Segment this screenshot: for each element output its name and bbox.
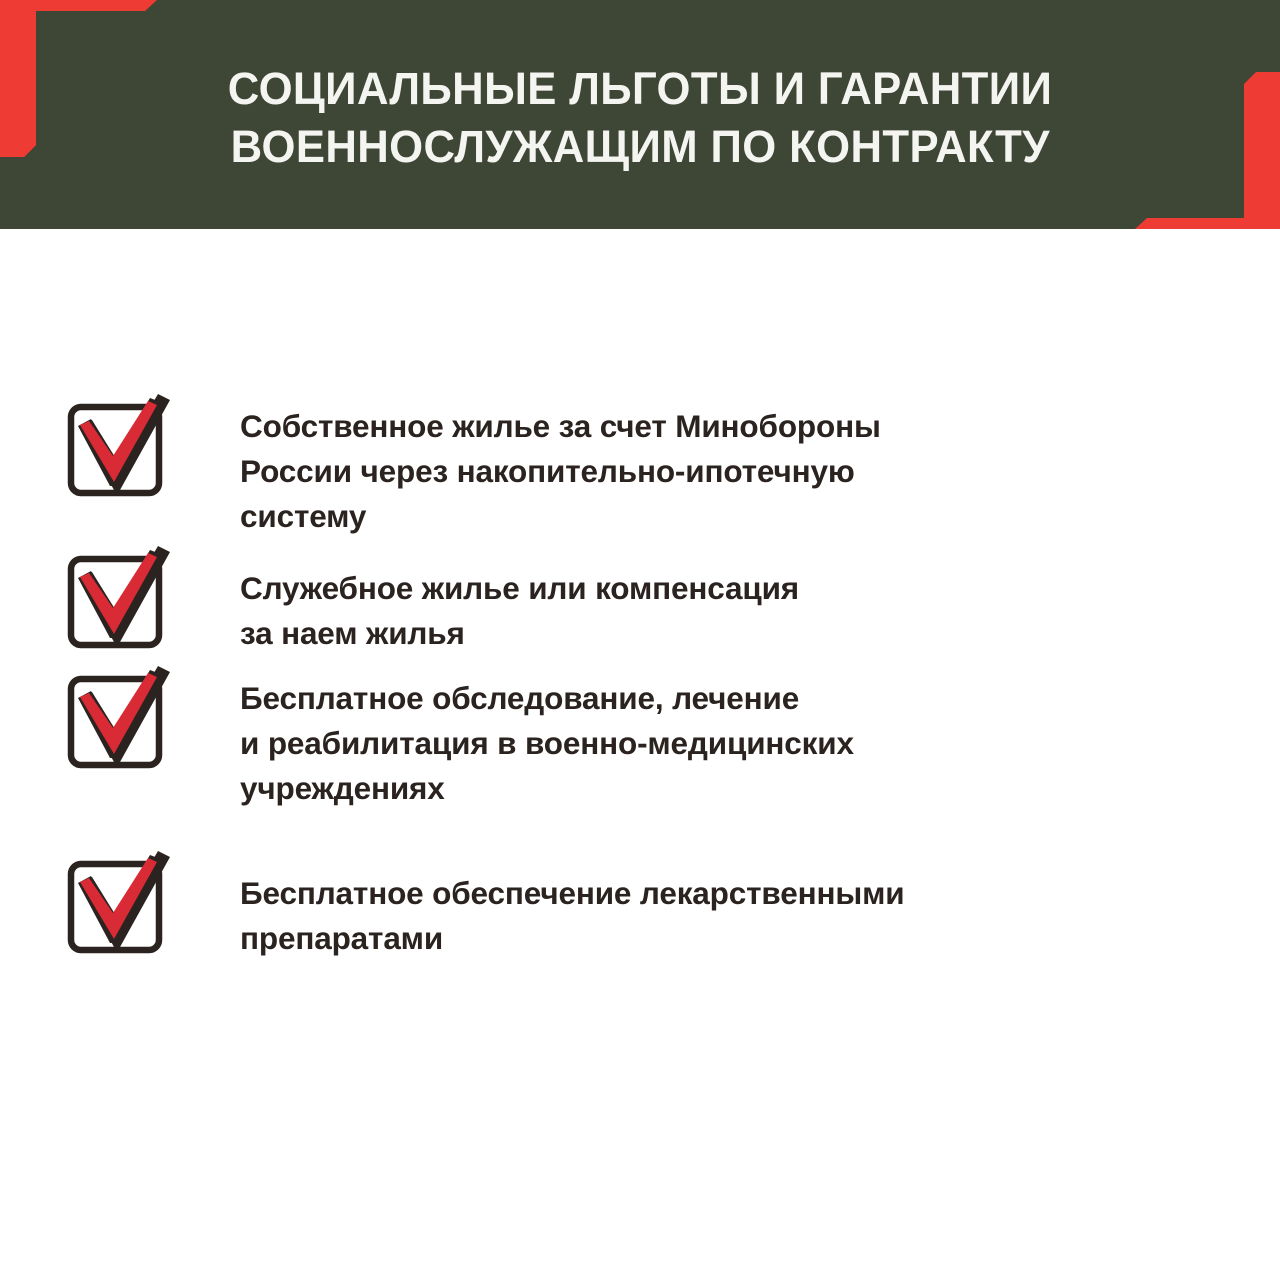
page-title-line-2: ВОЕННОСЛУЖАЩИМ ПО КОНТРАКТУ — [230, 118, 1049, 176]
red-checkmark-in-box-icon — [62, 394, 172, 506]
checkbox-4 — [62, 851, 172, 963]
red-checkmark-in-box-icon — [62, 546, 172, 658]
list-item: Бесплатное обеспечение лекарственными пр… — [0, 851, 1280, 963]
checkbox-1 — [62, 394, 172, 506]
list-item: Бесплатное обследование, лечение и реаби… — [0, 666, 1280, 811]
red-checkmark-in-box-icon — [62, 851, 172, 963]
benefits-list: Собственное жилье за счет Минобороны Рос… — [0, 229, 1280, 1270]
list-item-text: Служебное жилье или компенсация за наем … — [240, 566, 799, 656]
red-checkmark-in-box-icon — [62, 666, 172, 778]
checkbox-3 — [62, 666, 172, 778]
page-title: СОЦИАЛЬНЫЕ ЛЬГОТЫ И ГАРАНТИИ ВОЕННОСЛУЖА… — [0, 0, 1280, 229]
list-item-text: Бесплатное обследование, лечение и реаби… — [240, 676, 854, 811]
checkbox-2 — [62, 546, 172, 658]
header-banner: СОЦИАЛЬНЫЕ ЛЬГОТЫ И ГАРАНТИИ ВОЕННОСЛУЖА… — [0, 0, 1280, 229]
list-item: Собственное жилье за счет Минобороны Рос… — [0, 394, 1280, 539]
list-item: Служебное жилье или компенсация за наем … — [0, 546, 1280, 658]
page-title-line-1: СОЦИАЛЬНЫЕ ЛЬГОТЫ И ГАРАНТИИ — [228, 60, 1052, 118]
list-item-text: Собственное жилье за счет Минобороны Рос… — [240, 404, 881, 539]
list-item-text: Бесплатное обеспечение лекарственными пр… — [240, 871, 904, 961]
